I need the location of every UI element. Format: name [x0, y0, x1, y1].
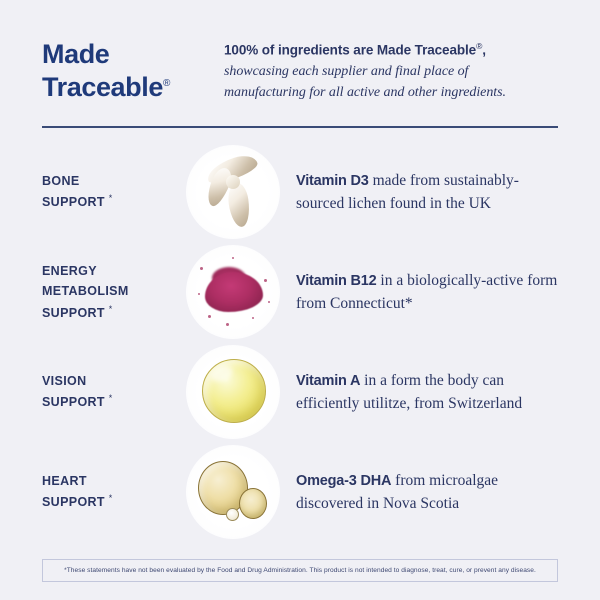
header: Made Traceable® 100% of ingredients are …: [0, 0, 600, 104]
benefit-label-vision-support: VISION SUPPORT *: [42, 371, 178, 413]
benefit-text-energy-metabolism-support: Vitamin B12 in a biologically-active for…: [278, 269, 558, 316]
intro-lead-comma: ,: [482, 43, 486, 58]
label-asterisk: *: [109, 493, 113, 503]
intro-block: 100% of ingredients are Made Traceable®,…: [224, 34, 558, 103]
benefit-text-heart-support: Omega-3 DHA from microalgae discovered i…: [278, 469, 558, 516]
lichen-art: [186, 145, 280, 239]
benefit-ingredient-name: Vitamin B12: [296, 273, 377, 289]
label-line: SUPPORT *: [42, 391, 178, 412]
icon-circle: [186, 245, 280, 339]
logo-registered-mark: ®: [163, 78, 170, 89]
powder-speck: [208, 315, 211, 318]
label-line: VISION: [42, 371, 178, 391]
label-line: SUPPORT *: [42, 491, 178, 512]
benefit-row-heart-support: HEART SUPPORT * Omega-3 DHA from microal…: [0, 442, 600, 542]
benefit-row-bone-support: BONE SUPPORT * Vitamin D3 made from sust…: [0, 142, 600, 242]
omega-softgel-small: [239, 488, 267, 519]
brand-logo: Made Traceable®: [42, 34, 224, 104]
omega-droplet: [226, 508, 239, 521]
intro-sub-line-2: manufacturing for all active and other i…: [224, 82, 558, 103]
omega-softgels-icon: [178, 442, 278, 542]
made-traceable-infographic: Made Traceable® 100% of ingredients are …: [0, 0, 600, 600]
lichen-shape-d: [226, 175, 240, 189]
omega-art: [186, 445, 280, 539]
logo-line-2: Traceable®: [42, 71, 224, 104]
label-line-text: SUPPORT: [42, 306, 105, 320]
lichen-shape-c: [226, 182, 252, 228]
magenta-powder-icon: [178, 242, 278, 342]
benefit-label-energy-metabolism-support: ENERGY METABOLISM SUPPORT *: [42, 261, 178, 323]
benefit-ingredient-name: Vitamin D3: [296, 173, 369, 189]
powder-speck: [268, 301, 270, 303]
label-line: HEART: [42, 471, 178, 491]
icon-circle: [186, 145, 280, 239]
intro-lead-text: 100% of ingredients are Made Traceable: [224, 43, 476, 58]
benefit-text-vision-support: Vitamin A in a form the body can efficie…: [278, 369, 558, 416]
logo-line-2-text: Traceable: [42, 72, 163, 102]
lichen-blob-icon: [178, 142, 278, 242]
header-divider: [42, 126, 558, 128]
label-line-text: SUPPORT: [42, 496, 105, 510]
benefit-row-vision-support: VISION SUPPORT * Vitamin A in a form the…: [0, 342, 600, 442]
powder-speck: [252, 317, 254, 319]
label-line: SUPPORT *: [42, 191, 178, 212]
benefit-ingredient-name: Vitamin A: [296, 373, 360, 389]
benefit-ingredient-name: Omega-3 DHA: [296, 473, 391, 489]
footer-disclaimer-text: *These statements have not been evaluate…: [53, 566, 547, 575]
benefit-row-energy-metabolism-support: ENERGY METABOLISM SUPPORT *: [0, 242, 600, 342]
label-line: BONE: [42, 171, 178, 191]
icon-circle: [186, 445, 280, 539]
powder-speck: [200, 267, 203, 270]
softgel-art: [186, 345, 280, 439]
intro-sub-line-1: showcasing each supplier and final place…: [224, 61, 558, 82]
powder-art: [186, 245, 280, 339]
benefit-rows: BONE SUPPORT * Vitamin D3 made from sust…: [0, 142, 600, 542]
footer-disclaimer-box: *These statements have not been evaluate…: [42, 559, 558, 582]
benefit-text-bone-support: Vitamin D3 made from sustainably-sourced…: [278, 169, 558, 216]
benefit-label-heart-support: HEART SUPPORT *: [42, 471, 178, 513]
icon-circle: [186, 345, 280, 439]
powder-speck: [198, 293, 200, 295]
label-line: ENERGY: [42, 261, 178, 281]
powder-pile: [205, 272, 263, 312]
label-asterisk: *: [109, 193, 113, 203]
powder-speck: [264, 279, 267, 282]
powder-speck: [232, 257, 234, 259]
benefit-label-bone-support: BONE SUPPORT *: [42, 171, 178, 213]
label-asterisk: *: [109, 393, 113, 403]
softgel-capsule: [202, 359, 266, 423]
intro-lead-line: 100% of ingredients are Made Traceable®,: [224, 40, 558, 61]
powder-speck: [226, 323, 229, 326]
logo-line-1: Made: [42, 38, 224, 71]
label-line: METABOLISM: [42, 281, 178, 301]
label-line-text: SUPPORT: [42, 196, 105, 210]
label-line: SUPPORT *: [42, 302, 178, 323]
yellow-softgel-icon: [178, 342, 278, 442]
label-line-text: SUPPORT: [42, 396, 105, 410]
label-asterisk: *: [109, 304, 113, 314]
